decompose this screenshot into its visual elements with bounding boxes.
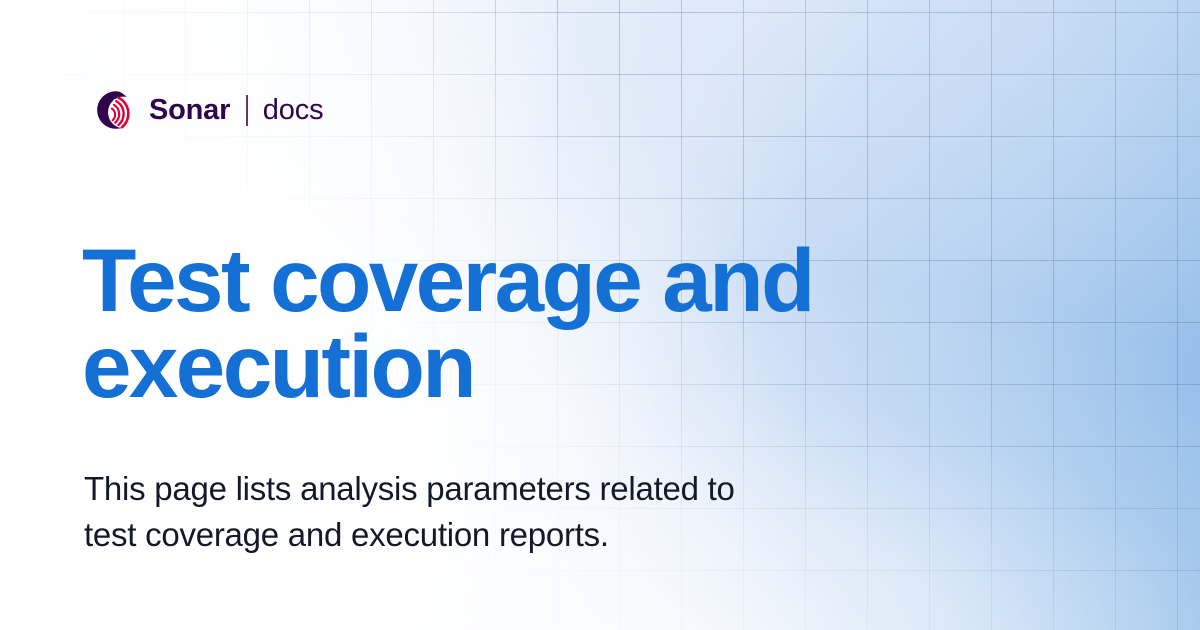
brand-name: Sonar [149, 96, 230, 125]
page-title: Test coverage and execution [82, 237, 1092, 410]
sonar-logo-icon [96, 90, 136, 130]
brand-section-label: docs [263, 96, 324, 125]
og-card: Sonar docs Test coverage and execution T… [0, 0, 1200, 630]
brand-divider [246, 95, 248, 126]
card-content: Sonar docs Test coverage and execution T… [0, 0, 1200, 630]
page-description: This page lists analysis parameters rela… [84, 466, 944, 558]
brand-lockup: Sonar docs [96, 88, 324, 132]
